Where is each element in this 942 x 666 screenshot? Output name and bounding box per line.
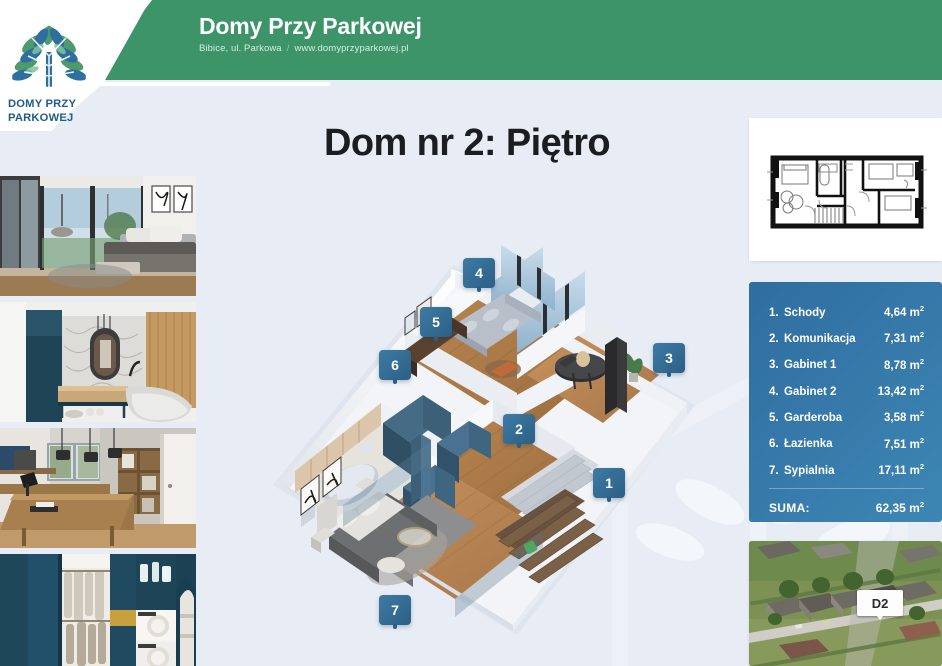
- room-badge-4[interactable]: 4: [463, 258, 495, 288]
- legend-row: 6. Łazienka 7,51 m2: [769, 436, 924, 451]
- legend-divider: [769, 488, 924, 489]
- legend-total-row: SUMA: 62,35 m2: [769, 500, 924, 515]
- legend-total-label: SUMA:: [769, 501, 876, 515]
- legend-area: 7,31 m2: [884, 330, 924, 345]
- header-address: Bibice, ul. Parkowa: [199, 43, 282, 54]
- legend-row: 3. Gabinet 1 8,78 m2: [769, 357, 924, 372]
- aerial-site-map[interactable]: D2: [749, 541, 942, 666]
- header-website[interactable]: www.domyprzyparkowej.pl: [294, 43, 408, 54]
- room-legend: 1. Schody 4,64 m2 2. Komunikacja 7,31 m2…: [749, 282, 942, 522]
- legend-room-name: Komunikacja: [784, 333, 884, 345]
- page-title: Dom nr 2: Piętro: [324, 122, 610, 165]
- header-subtitle: Bibice, ul. Parkowa/www.domyprzyparkowej…: [199, 42, 422, 56]
- legend-number: 4.: [769, 386, 784, 398]
- logo-text: DOMY PRZY PARKOWEJ: [8, 98, 96, 125]
- legend-area: 17,11 m2: [878, 462, 924, 477]
- legend-row: 4. Gabinet 2 13,42 m2: [769, 383, 924, 398]
- legend-room-name: Sypialnia: [784, 465, 878, 477]
- room-badge-6[interactable]: 6: [379, 350, 411, 380]
- header-separator: /: [287, 43, 290, 54]
- brand-title: Domy Przy Parkowej: [199, 13, 422, 39]
- legend-total-area: 62,35 m2: [876, 500, 924, 515]
- legend-number: 3.: [769, 359, 784, 371]
- house-tree-logo-icon: [8, 22, 90, 90]
- legend-row: 5. Garderoba 3,58 m2: [769, 409, 924, 424]
- legend-row: 7. Sypialnia 17,11 m2: [769, 462, 924, 477]
- legend-room-name: Gabinet 2: [784, 386, 878, 398]
- logo[interactable]: DOMY PRZY PARKOWEJ: [8, 22, 96, 118]
- photo-strip: [0, 176, 196, 666]
- legend-number: 6.: [769, 438, 784, 450]
- room-badge-1[interactable]: 1: [593, 468, 625, 498]
- photo-bedroom[interactable]: [0, 176, 196, 296]
- legend-area: 4,64 m2: [884, 304, 924, 319]
- legend-number: 5.: [769, 412, 784, 424]
- room-badge-3[interactable]: 3: [653, 343, 685, 373]
- floor-render: [255, 235, 715, 665]
- legend-room-name: Garderoba: [784, 412, 884, 424]
- legend-area: 3,58 m2: [884, 409, 924, 424]
- legend-area: 8,78 m2: [884, 357, 924, 372]
- legend-number: 1.: [769, 307, 784, 319]
- room-badge-5[interactable]: 5: [420, 307, 452, 337]
- legend-row: 1. Schody 4,64 m2: [769, 304, 924, 319]
- floor-plan-thumbnail[interactable]: [749, 118, 942, 261]
- header-text: Domy Przy Parkowej Bibice, ul. Parkowa/w…: [199, 13, 422, 56]
- map-marker-d2[interactable]: D2: [857, 590, 903, 616]
- poster-page: Domy Przy Parkowej Bibice, ul. Parkowa/w…: [0, 0, 942, 666]
- photo-bathroom[interactable]: [0, 302, 196, 422]
- photo-office[interactable]: [0, 428, 196, 548]
- legend-room-name: Łazienka: [784, 438, 884, 450]
- legend-room-name: Schody: [784, 307, 884, 319]
- legend-number: 7.: [769, 465, 784, 477]
- room-badge-2[interactable]: 2: [503, 414, 535, 444]
- photo-wardrobe[interactable]: [0, 554, 196, 666]
- legend-number: 2.: [769, 333, 784, 345]
- room-badge-7[interactable]: 7: [379, 595, 411, 625]
- legend-area: 7,51 m2: [884, 436, 924, 451]
- logo-line-1: DOMY PRZY: [8, 98, 96, 112]
- legend-row: 2. Komunikacja 7,31 m2: [769, 330, 924, 345]
- legend-room-name: Gabinet 1: [784, 359, 884, 371]
- legend-area: 13,42 m2: [878, 383, 924, 398]
- logo-line-2: PARKOWEJ: [8, 112, 96, 126]
